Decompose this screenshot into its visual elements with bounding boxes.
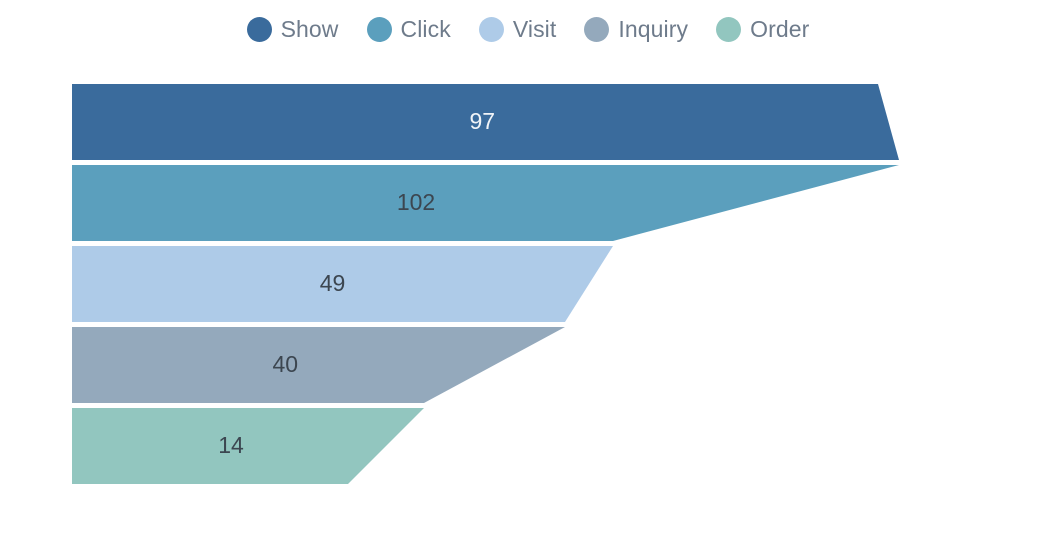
funnel-band-group [72, 84, 899, 484]
funnel-band-click[interactable] [72, 165, 899, 241]
funnel-svg: 97102494014 [0, 0, 1056, 556]
funnel-band-order[interactable] [72, 408, 424, 484]
funnel-plot-area: 97102494014 [0, 0, 1056, 556]
funnel-band-value-visit: 49 [320, 270, 346, 296]
funnel-band-value-click: 102 [397, 189, 435, 215]
funnel-band-inquiry[interactable] [72, 327, 565, 403]
funnel-chart-root: ShowClickVisitInquiryOrder 97102494014 [0, 0, 1056, 556]
funnel-band-value-show: 97 [469, 108, 495, 134]
funnel-band-value-inquiry: 40 [272, 351, 298, 377]
funnel-band-value-order: 14 [218, 432, 244, 458]
